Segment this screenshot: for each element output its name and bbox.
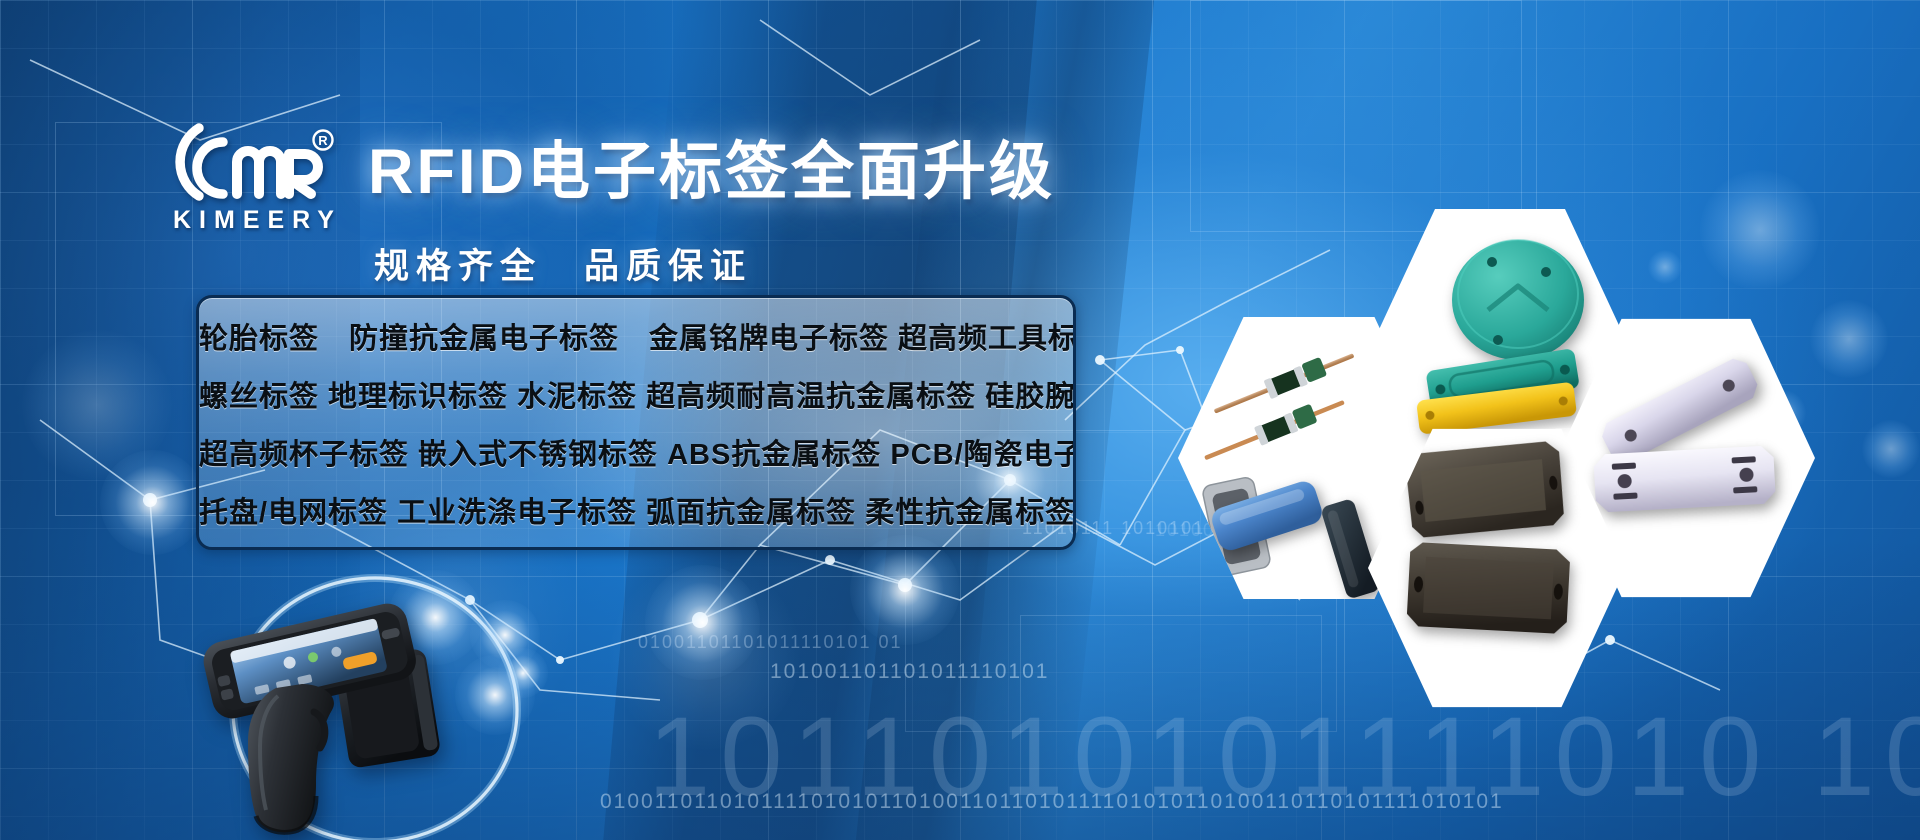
node-glow-5 [100,450,205,555]
product-list-row: 轮胎标签 防撞抗金属电子标签 金属铭牌电子标签 超高频工具标签 [199,310,1073,368]
page-subtitle: 规格齐全 品质保证 [374,238,752,289]
brand-wordmark: KIMEERY [165,206,340,235]
binary-string-4: 0100110110101111010101101001101101011110… [600,790,1504,814]
node-glow-1 [850,535,960,645]
rfid-promo-banner: 01001101101011110101 01 1010011011010111… [0,0,1920,840]
page-title: RFID电子标签全面升级 [368,121,1055,212]
binary-string-1: 01001101101011110101 01 [638,632,903,653]
product-list-row: 超高频杯子标签 嵌入式不锈钢标签 ABS抗金属标签 PCB/陶瓷电子标签 [199,426,1073,484]
brand-logo: R KIMEERY [165,120,340,242]
node-glow-3 [645,565,760,680]
product-list-box: 轮胎标签 防撞抗金属电子标签 金属铭牌电子标签 超高频工具标签 螺丝标签 地理标… [196,295,1076,550]
binary-string-2: 101001101101011110101 [770,660,1049,684]
reader-ring-glow-2 [498,648,548,698]
hex-connector-accents [1150,180,1850,740]
kimeery-logo-mark-icon: R [165,120,340,202]
svg-text:R: R [318,133,328,148]
handheld-rfid-reader [190,592,480,840]
product-list-row: 螺丝标签 地理标识标签 水泥标签 超高频耐高温抗金属标签 硅胶腕带 [199,368,1073,426]
product-list-row: 托盘/电网标签 工业洗涤电子标签 弧面抗金属标签 柔性抗金属标签 [199,484,1073,542]
